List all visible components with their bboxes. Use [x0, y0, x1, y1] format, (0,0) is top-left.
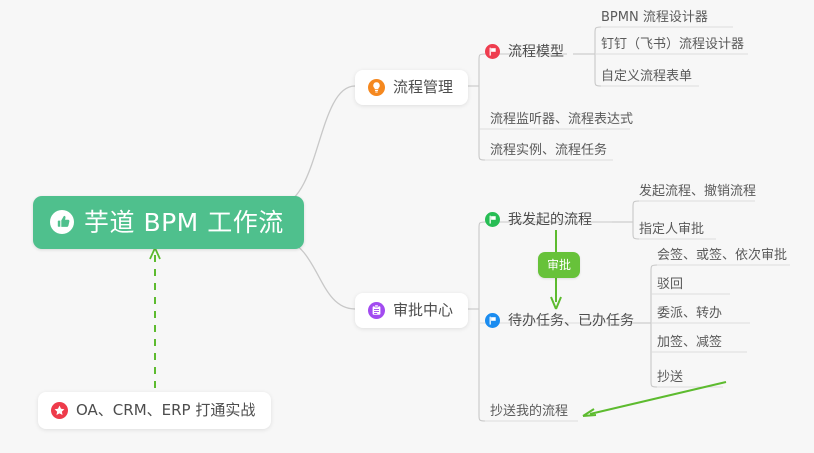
node-label-todo-done-tasks: 待办任务、已办任务	[508, 314, 634, 328]
footer-node-integration[interactable]: OA、CRM、ERP 打通实战	[38, 392, 271, 429]
leaf-label: 加签、减签	[657, 336, 722, 350]
leaf-label: 发起流程、撤销流程	[639, 185, 756, 199]
star-icon	[51, 402, 68, 419]
leaf-label: 自定义流程表单	[601, 70, 692, 84]
branch-node-process-management[interactable]: 流程管理	[355, 70, 468, 105]
flag-icon	[485, 212, 500, 227]
clipboard-icon	[368, 302, 385, 319]
leaf-label: 指定人审批	[639, 223, 704, 237]
leaf-label: 驳回	[657, 278, 683, 292]
leaf-dingtalk-designer[interactable]: 钉钉（飞书）流程设计器	[601, 38, 744, 57]
branch-node-approval-center[interactable]: 审批中心	[355, 293, 468, 328]
leaf-countersign[interactable]: 会签、或签、依次审批	[657, 249, 787, 268]
leaf-reject[interactable]: 驳回	[657, 278, 683, 297]
leaf-label: 会签、或签、依次审批	[657, 249, 787, 263]
node-process-model[interactable]: 流程模型	[485, 40, 570, 63]
footer-node-label: OA、CRM、ERP 打通实战	[76, 403, 255, 418]
approval-tag: 审批	[538, 252, 580, 278]
leaf-add-remove-sign[interactable]: 加签、减签	[657, 336, 722, 355]
leaf-cc[interactable]: 抄送	[657, 371, 683, 390]
leaf-label: 委派、转办	[657, 307, 722, 321]
dashed-arrow-up	[150, 248, 160, 388]
cc-flow-arrow	[583, 382, 726, 416]
leaf-label: 流程实例、流程任务	[490, 144, 607, 158]
leaf-label: BPMN 流程设计器	[601, 11, 708, 25]
node-todo-done-tasks[interactable]: 待办任务、已办任务	[485, 309, 640, 332]
lightbulb-icon	[368, 79, 385, 96]
node-my-initiated[interactable]: 我发起的流程	[485, 208, 598, 231]
node-label-my-initiated: 我发起的流程	[508, 213, 592, 227]
leaf-label: 抄送我的流程	[490, 405, 568, 419]
leaf-process-listener[interactable]: 流程监听器、流程表达式	[490, 113, 633, 132]
leaf-start-cancel-process[interactable]: 发起流程、撤销流程	[639, 185, 756, 204]
leaf-custom-form[interactable]: 自定义流程表单	[601, 70, 692, 89]
leaf-process-instance[interactable]: 流程实例、流程任务	[490, 144, 607, 163]
leaf-assignee-approval[interactable]: 指定人审批	[639, 223, 704, 242]
leaf-label: 流程监听器、流程表达式	[490, 113, 633, 127]
branch-label-process-management: 流程管理	[393, 80, 453, 95]
thumbs-up-icon	[49, 209, 75, 235]
leaf-cc-to-me[interactable]: 抄送我的流程	[490, 405, 568, 424]
root-label: 芋道 BPM 工作流	[84, 210, 284, 235]
flag-icon	[485, 313, 500, 328]
leaf-label: 抄送	[657, 371, 683, 385]
node-label-process-model: 流程模型	[508, 45, 564, 59]
leaf-bpmn-designer[interactable]: BPMN 流程设计器	[601, 11, 708, 30]
leaf-label: 钉钉（飞书）流程设计器	[601, 38, 744, 52]
mindmap-canvas: 芋道 BPM 工作流 流程管理 流程模型 BPMN 流程设计器 钉钉（飞书	[0, 0, 814, 453]
flag-icon	[485, 44, 500, 59]
leaf-delegate-transfer[interactable]: 委派、转办	[657, 307, 722, 326]
root-node[interactable]: 芋道 BPM 工作流	[33, 196, 304, 249]
branch-label-approval-center: 审批中心	[393, 303, 453, 318]
